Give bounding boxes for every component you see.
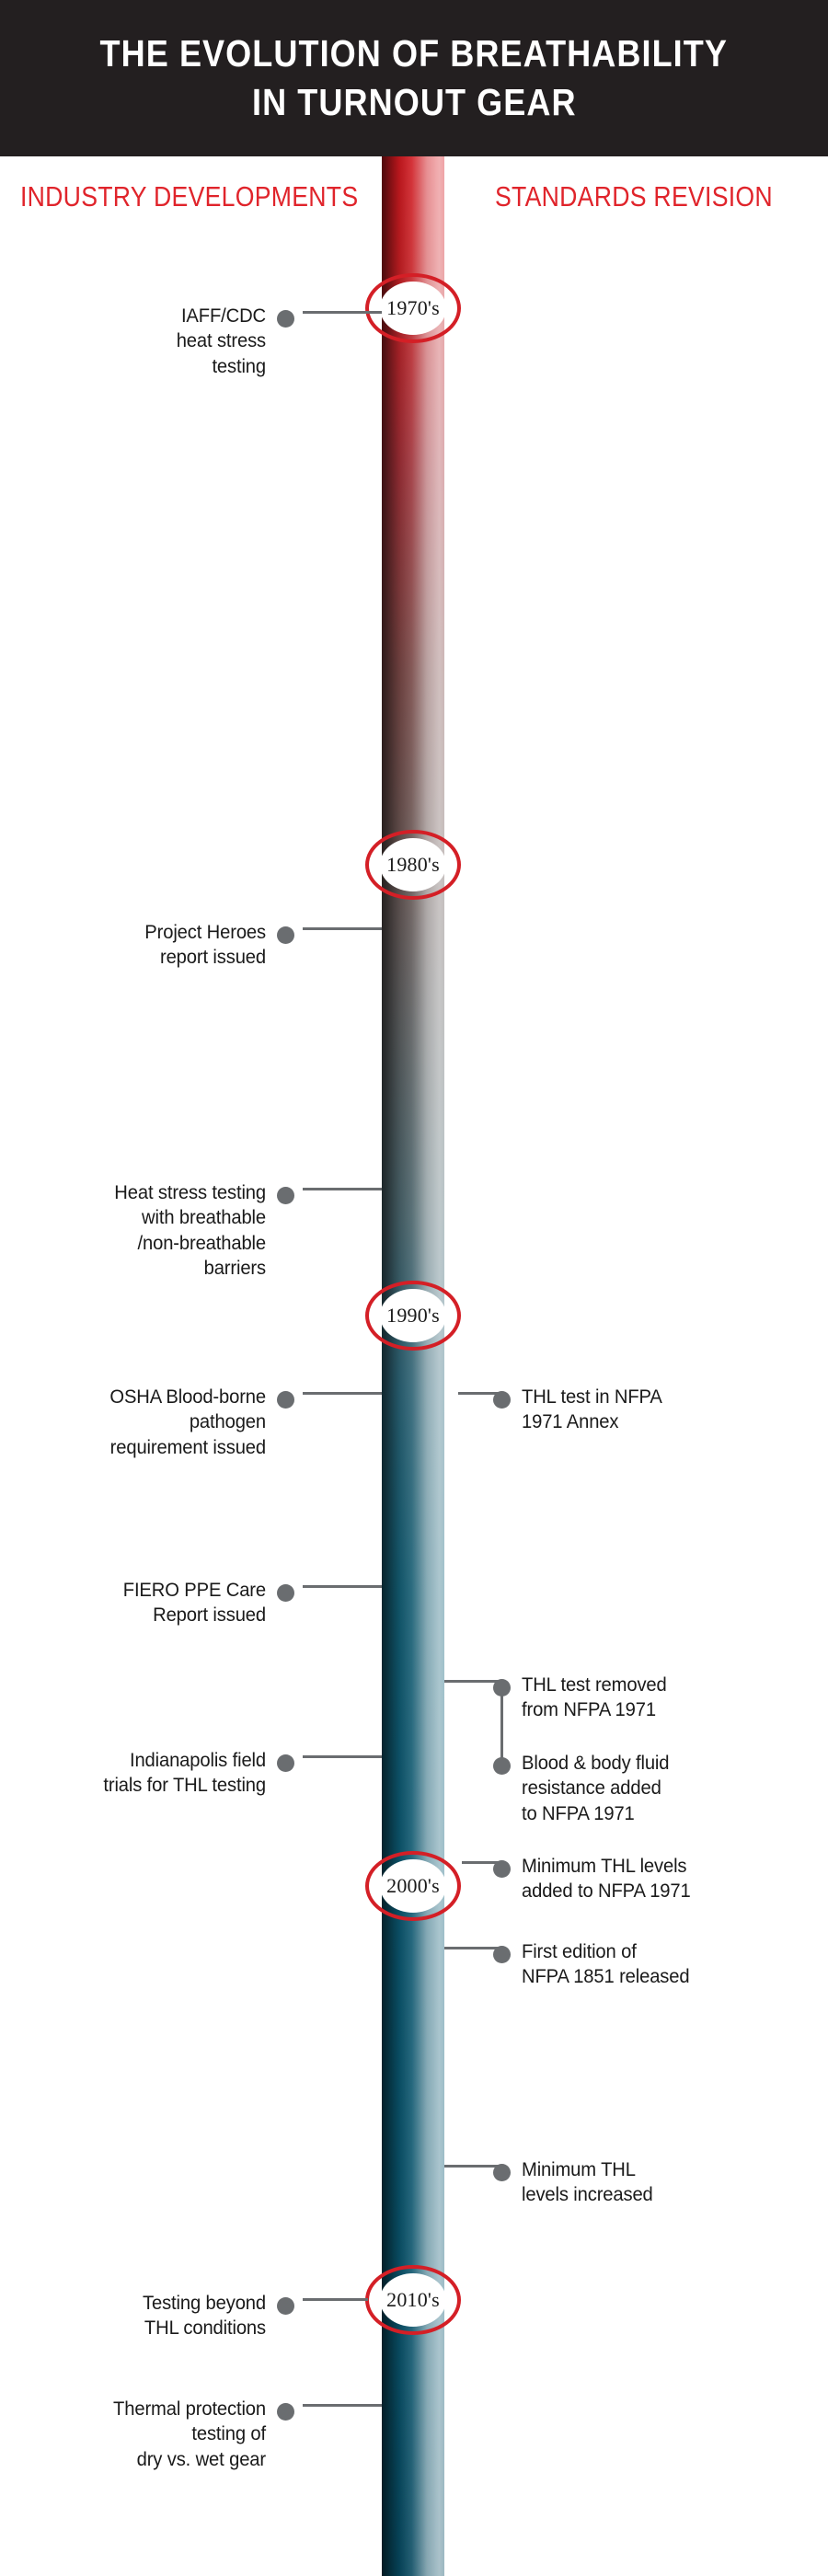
event-label-project-heroes: Project Heroes report issued <box>41 920 266 971</box>
event-heat-stress[interactable]: Heat stress testing with breathable /non… <box>27 1180 294 1281</box>
event-label-min-thl-added: Minimum THL levels added to NFPA 1971 <box>522 1854 746 1904</box>
timeline-bar-shading <box>382 156 444 2576</box>
event-project-heroes[interactable]: Project Heroes report issued <box>27 920 294 971</box>
event-dot-icon[interactable] <box>277 2403 294 2421</box>
event-dot-icon[interactable] <box>277 926 294 944</box>
event-label-min-thl-incr: Minimum THL levels increased <box>522 2157 746 2208</box>
event-connector-osha <box>303 1392 382 1395</box>
event-testing-beyond[interactable]: Testing beyond THL conditions <box>27 2291 294 2341</box>
event-label-blood-fluid: Blood & body fluid resistance added to N… <box>522 1751 746 1826</box>
event-connector-min-thl-added <box>462 1861 500 1864</box>
event-label-fiero: FIERO PPE Care Report issued <box>41 1578 266 1628</box>
event-label-indianapolis: Indianapolis field trials for THL testin… <box>41 1748 266 1799</box>
event-label-heat-stress: Heat stress testing with breathable /non… <box>41 1180 266 1281</box>
event-thl-removed[interactable]: THL test removed from NFPA 1971 <box>493 1673 761 1723</box>
event-connector-min-thl-incr <box>444 2165 500 2168</box>
event-label-iaff-cdc: IAFF/CDC heat stress testing <box>41 304 266 379</box>
event-osha[interactable]: OSHA Blood-borne pathogen requirement is… <box>27 1385 294 1460</box>
event-iaff-cdc[interactable]: IAFF/CDC heat stress testing <box>27 304 294 379</box>
timeline-bar <box>382 156 444 2576</box>
event-label-nfpa-1851: First edition of NFPA 1851 released <box>522 1939 746 1990</box>
event-dot-icon[interactable] <box>277 1187 294 1204</box>
event-label-thl-annex: THL test in NFPA 1971 Annex <box>522 1385 746 1435</box>
event-connector-nfpa-1851 <box>444 1947 500 1949</box>
column-heading-industry-developments: INDUSTRY DEVELOPMENTS <box>20 180 358 213</box>
event-thermal-prot[interactable]: Thermal protection testing of dry vs. we… <box>27 2397 294 2472</box>
event-dot-icon[interactable] <box>277 1754 294 1772</box>
header-banner: THE EVOLUTION OF BREATHABILITY IN TURNOU… <box>0 0 828 156</box>
column-heading-standards-revision: STANDARDS REVISION <box>495 180 773 213</box>
event-vertical-connector <box>500 1687 503 1765</box>
event-connector-iaff-cdc <box>303 311 382 314</box>
event-connector-indianapolis <box>303 1755 382 1758</box>
event-dot-icon[interactable] <box>277 1391 294 1409</box>
event-blood-fluid[interactable]: Blood & body fluid resistance added to N… <box>493 1751 761 1826</box>
page-title-line-1: THE EVOLUTION OF BREATHABILITY <box>100 29 728 78</box>
event-vertical-connector-secondary <box>500 1765 503 1869</box>
event-connector-thermal-prot <box>303 2404 382 2407</box>
event-connector-project-heroes <box>303 927 382 930</box>
event-connector-fiero <box>303 1585 382 1588</box>
event-dot-icon[interactable] <box>277 1584 294 1602</box>
event-label-thl-removed: THL test removed from NFPA 1971 <box>522 1673 746 1723</box>
decade-marker-label: 1970's <box>386 296 440 320</box>
event-label-testing-beyond: Testing beyond THL conditions <box>41 2291 266 2341</box>
event-dot-icon[interactable] <box>277 310 294 328</box>
decade-marker-1990s[interactable]: 1990's <box>364 1280 462 1351</box>
event-thl-annex[interactable]: THL test in NFPA 1971 Annex <box>493 1385 761 1435</box>
page-title-line-2: IN TURNOUT GEAR <box>252 78 577 127</box>
event-nfpa-1851[interactable]: First edition of NFPA 1851 released <box>493 1939 761 1990</box>
event-connector-thl-removed <box>444 1680 500 1683</box>
event-label-osha: OSHA Blood-borne pathogen requirement is… <box>41 1385 266 1460</box>
event-connector-testing-beyond <box>303 2298 368 2301</box>
event-connector-heat-stress <box>303 1188 382 1190</box>
event-min-thl-added[interactable]: Minimum THL levels added to NFPA 1971 <box>493 1854 761 1904</box>
event-label-thermal-prot: Thermal protection testing of dry vs. we… <box>41 2397 266 2472</box>
event-indianapolis[interactable]: Indianapolis field trials for THL testin… <box>27 1748 294 1799</box>
event-fiero[interactable]: FIERO PPE Care Report issued <box>27 1578 294 1628</box>
event-dot-icon[interactable] <box>277 2297 294 2315</box>
decade-marker-label: 2010's <box>386 2288 440 2312</box>
decade-marker-1980s[interactable]: 1980's <box>364 829 462 901</box>
decade-marker-2010s[interactable]: 2010's <box>364 2264 462 2336</box>
event-connector-thl-annex <box>458 1392 500 1395</box>
decade-marker-2000s[interactable]: 2000's <box>364 1850 462 1922</box>
event-min-thl-incr[interactable]: Minimum THL levels increased <box>493 2157 761 2208</box>
decade-marker-label: 1980's <box>386 853 440 877</box>
decade-marker-1970s[interactable]: 1970's <box>364 272 462 344</box>
decade-marker-label: 1990's <box>386 1304 440 1328</box>
decade-marker-label: 2000's <box>386 1874 440 1898</box>
